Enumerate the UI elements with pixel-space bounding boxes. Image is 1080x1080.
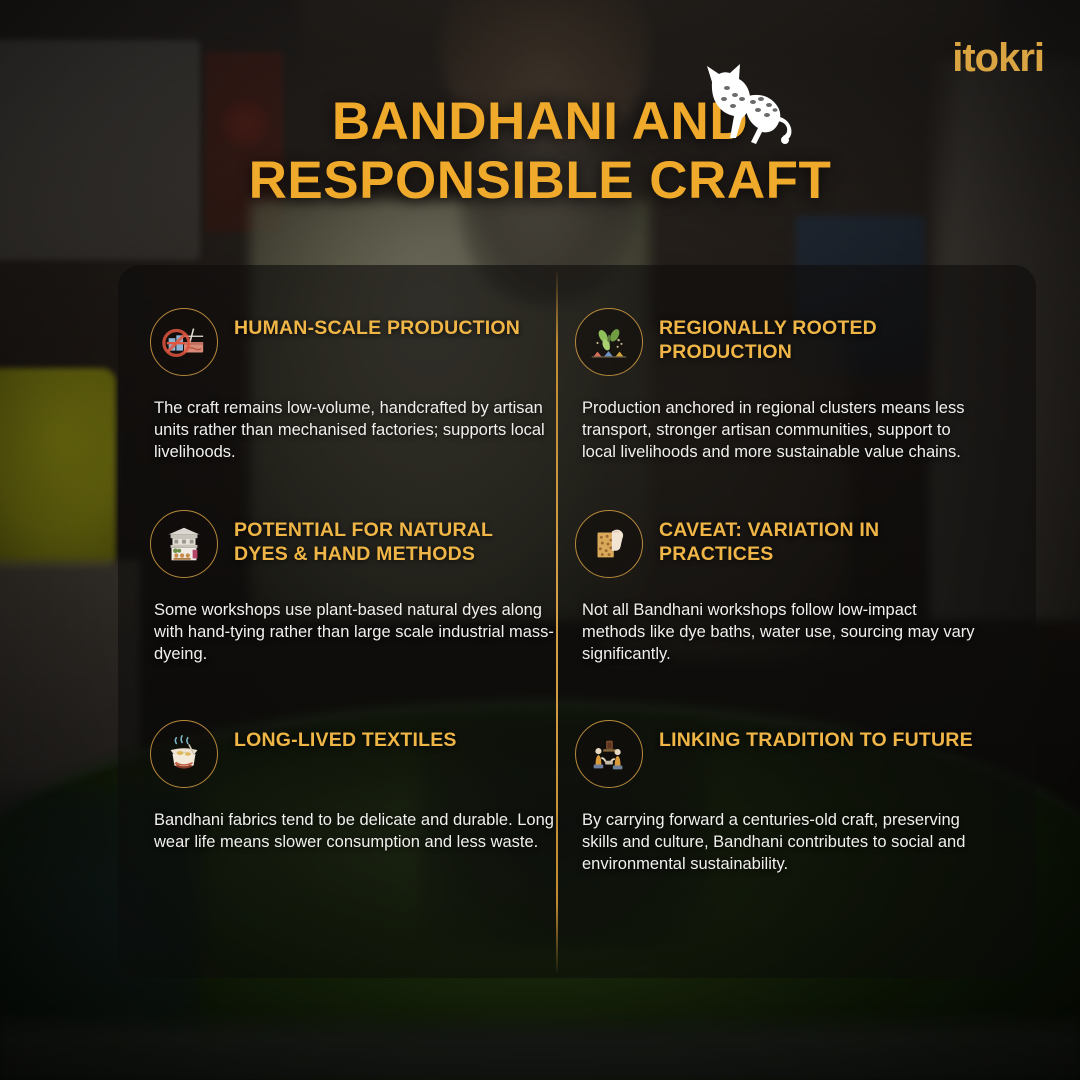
page-title-line-2: RESPONSIBLE CRAFT (0, 151, 1080, 210)
brand-logo[interactable]: itokri (952, 38, 1044, 78)
card-long-lived-textiles: LONG-LIVED TEXTILES Bandhani fabrics ten… (150, 720, 570, 854)
card-body: Not all Bandhani workshops follow low-im… (582, 600, 982, 666)
steaming-dye-pot-icon (161, 731, 207, 777)
card-heading: LINKING TRADITION TO FUTURE (659, 720, 973, 753)
seedling-sprout-icon-badge (575, 308, 643, 376)
card-heading: CAVEAT: VARIATION IN PRACTICES (659, 510, 959, 567)
card-human-scale-production: HUMAN-SCALE PRODUCTION The craft remains… (150, 308, 570, 464)
brand-logo-text: itokri (952, 36, 1044, 80)
card-natural-dyes-hand-methods: POTENTIAL FOR NATURAL DYES & HAND METHOD… (150, 510, 570, 666)
infographic-canvas: itokri BANDHANI AND RESPONSIBLE CRAFT (0, 0, 1080, 1080)
card-caveat-variation-in-practices: CAVEAT: VARIATION IN PRACTICES Not all B… (575, 510, 995, 666)
two-artisans-icon (586, 731, 632, 777)
no-factory-icon-badge (150, 308, 218, 376)
card-body: The craft remains low-volume, handcrafte… (154, 398, 554, 464)
two-artisans-icon-badge (575, 720, 643, 788)
card-linking-tradition-to-future: LINKING TRADITION TO FUTURE By carrying … (575, 720, 995, 876)
cards-grid: HUMAN-SCALE PRODUCTION The craft remains… (118, 265, 1036, 978)
card-heading: POTENTIAL FOR NATURAL DYES & HAND METHOD… (234, 510, 534, 567)
card-body: Some workshops use plant-based natural d… (154, 600, 554, 666)
card-heading: LONG-LIVED TEXTILES (234, 720, 457, 753)
hand-holding-fabric-icon (586, 521, 632, 567)
page-title: BANDHANI AND RESPONSIBLE CRAFT (0, 92, 1080, 211)
card-body: Bandhani fabrics tend to be delicate and… (154, 810, 554, 854)
workshop-building-icon (161, 521, 207, 567)
page-title-line-1: BANDHANI AND (332, 92, 748, 151)
seedling-sprout-icon (586, 319, 632, 365)
steaming-dye-pot-icon-badge (150, 720, 218, 788)
card-heading: HUMAN-SCALE PRODUCTION (234, 308, 520, 341)
hand-holding-fabric-icon-badge (575, 510, 643, 578)
card-regionally-rooted-production: REGIONALLY ROOTED PRODUCTION Production … (575, 308, 995, 464)
card-body: Production anchored in regional clusters… (582, 398, 982, 464)
workshop-building-icon-badge (150, 510, 218, 578)
no-factory-icon (161, 319, 207, 365)
card-body: By carrying forward a centuries-old craf… (582, 810, 982, 876)
card-heading: REGIONALLY ROOTED PRODUCTION (659, 308, 959, 365)
